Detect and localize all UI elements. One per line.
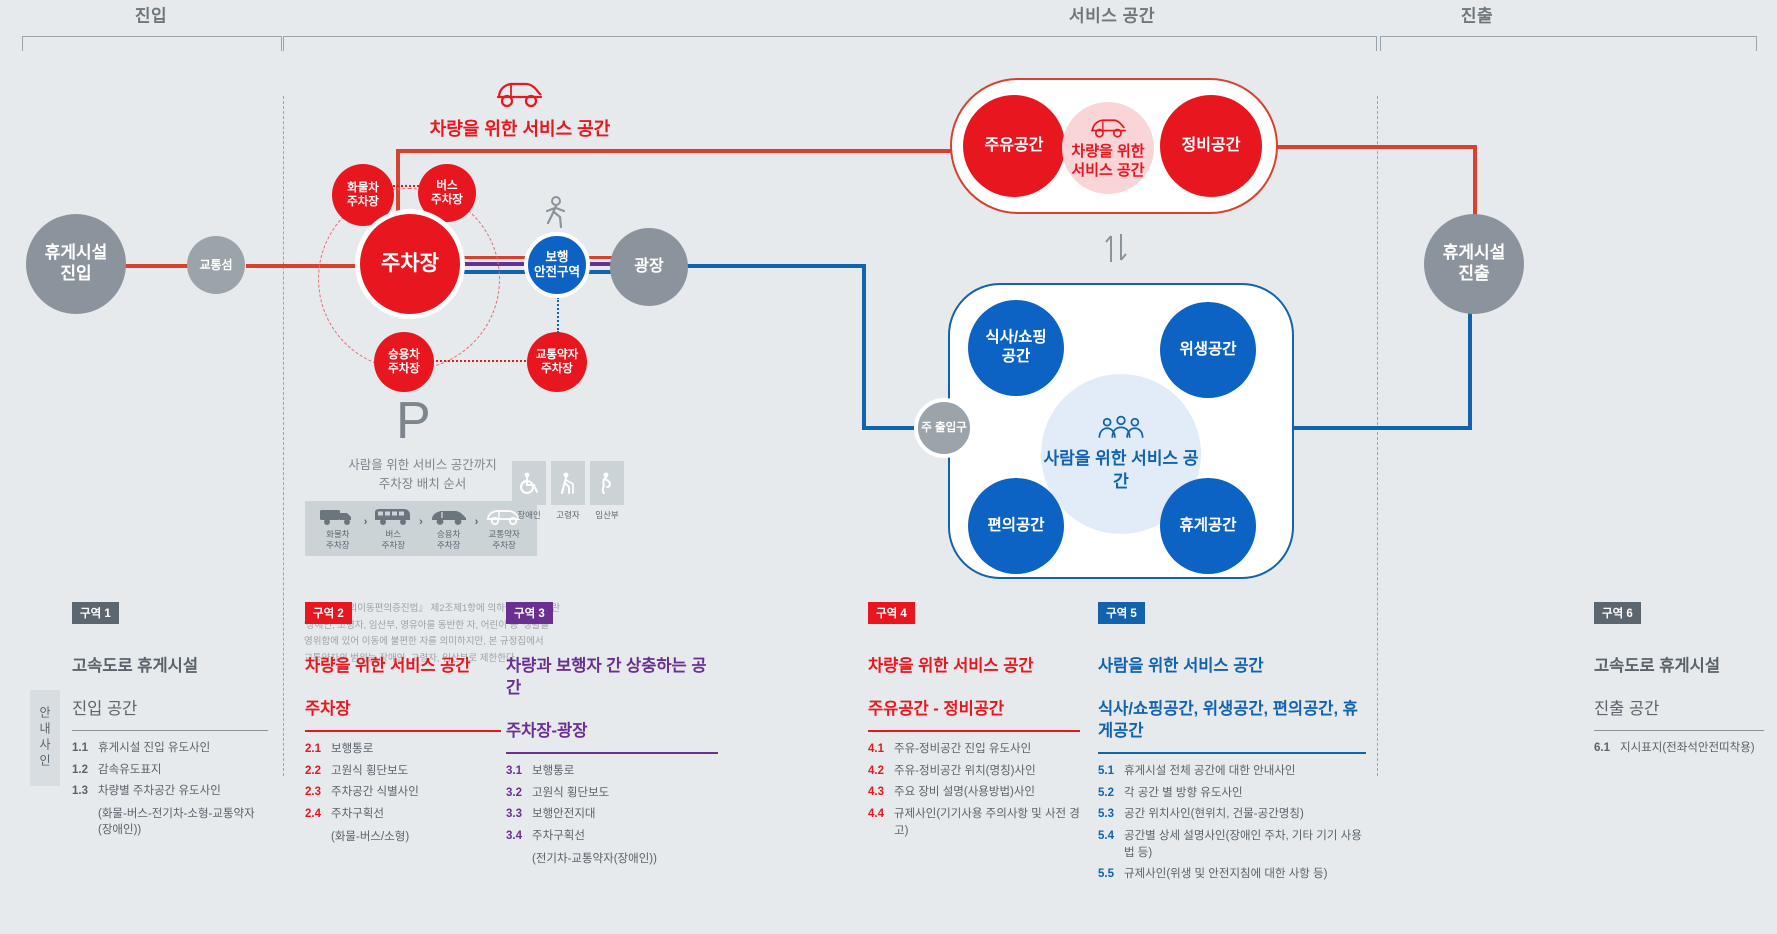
item-text: 지시표지(전좌석안전띠착용)	[1620, 740, 1755, 757]
sequence-arrow-3: ›	[474, 516, 480, 528]
item-number: 4.2	[868, 763, 894, 780]
section-3-subtitle: 주차장-광장	[506, 722, 587, 740]
list-item: 5.3공간 위치사인(현위치, 건물-공간명칭)	[1098, 806, 1366, 823]
item-number: 3.1	[506, 763, 532, 780]
item-number: 4.4	[868, 806, 894, 839]
bracket-service-label: 서비스 공간	[1055, 2, 1169, 27]
route-entry-to-island	[120, 264, 192, 268]
section-1-rule	[72, 730, 268, 731]
node-maintenance-space[interactable]: 정비공간	[1160, 95, 1262, 197]
section-1: 구역 1 고속도로 휴게시설 진입 공간 1.1휴게시설 진입 유도사인 1.2…	[72, 602, 268, 837]
section-1-subitem: (화물-버스-전기차-소형-교통약자(장애인))	[72, 805, 268, 837]
sequence-label-car: 승용차 주차장	[437, 529, 460, 552]
item-text: 보행통로	[532, 763, 574, 780]
list-item: 1.3차량별 주차공간 유도사인	[72, 783, 268, 800]
item-number: 5.3	[1098, 806, 1124, 823]
section-4-title: 차량을 위한 서비스 공간 주유공간 - 정비공간	[868, 634, 1080, 721]
item-number: 1.2	[72, 762, 98, 779]
item-text: 공간별 상세 설명사인(장애인 주차, 기타 기기 사용법 등)	[1124, 828, 1366, 861]
section-1-items: 1.1휴게시설 진입 유도사인 1.2감속유도표지 1.3차량별 주차공간 유도…	[72, 740, 268, 837]
list-item: 3.1보행통로	[506, 763, 718, 780]
list-item: 5.2각 공간 별 방향 유도사인	[1098, 785, 1366, 802]
pedestrian-icon	[541, 196, 571, 232]
section-2-title: 차량을 위한 서비스 공간 주차장	[305, 634, 501, 721]
item-number: 2.3	[305, 784, 331, 801]
section-3: 구역 3 차량과 보행자 간 상충하는 공간 주차장-광장 3.1보행통로 3.…	[506, 602, 718, 866]
section-5-title: 사람을 위한 서비스 공간 식사/쇼핑공간, 위생공간, 편의공간, 휴게공간	[1098, 634, 1366, 743]
section-4-tag: 구역 4	[868, 602, 915, 624]
diagram-canvas: 진입 서비스 공간 진출 휴게시설 진입 교통섬 화물차 주차장 버스 주차장 …	[0, 0, 1777, 934]
section-4-rule	[868, 730, 1080, 732]
section-1-title: 고속도로 휴게시설 진입 공간	[72, 634, 268, 721]
list-item: 2.3주차공간 식별사인	[305, 784, 501, 801]
section-2: 구역 2 차량을 위한 서비스 공간 주차장 2.1보행통로 2.2고원식 횡단…	[305, 602, 501, 844]
item-number: 1.3	[72, 783, 98, 800]
item-text: 규제사인(기기사용 주의사항 및 사전 경고)	[894, 806, 1080, 839]
list-item: 3.2고원식 횡단보도	[506, 785, 718, 802]
section-6-subtitle: 진출 공간	[1594, 700, 1659, 718]
section-3-title: 차량과 보행자 간 상충하는 공간 주차장-광장	[506, 634, 718, 743]
section-2-subitem: (화물-버스/소형)	[305, 828, 501, 844]
group-icon-cell-wheelchair	[512, 461, 546, 505]
vehicle-headline-car-icon	[493, 78, 545, 110]
vehicle-headline-label: 차량을 위한 서비스 공간	[400, 115, 640, 141]
list-item: 2.2고원식 횡단보도	[305, 763, 501, 780]
item-text: 주차구획선	[331, 806, 384, 823]
section-5-title-main: 사람을 위한 서비스 공간	[1098, 657, 1264, 675]
section-2-rule	[305, 730, 501, 732]
item-number: 2.2	[305, 763, 331, 780]
section-2-items: 2.1보행통로 2.2고원식 횡단보도 2.3주차공간 식별사인 2.4주차구획…	[305, 741, 501, 844]
bus-icon	[372, 506, 414, 526]
list-item: 4.3주요 장비 설명(사용방법)사인	[868, 784, 1080, 801]
bracket-service	[283, 36, 1377, 51]
list-item: 6.1지시표지(전좌석안전띠착용)	[1594, 740, 1764, 757]
node-entry[interactable]: 휴게시설 진입	[26, 214, 126, 314]
section-4-subtitle: 주유공간 - 정비공간	[868, 700, 1004, 718]
item-number: 5.4	[1098, 828, 1124, 861]
bracket-entry-label: 진입	[121, 2, 181, 27]
divider-entry-service	[283, 96, 284, 776]
item-text: 주유-정비공간 위치(명칭)사인	[894, 763, 1036, 780]
item-text: 주요 장비 설명(사용방법)사인	[894, 784, 1035, 801]
list-item: 4.1주유-정비공간 진입 유도사인	[868, 741, 1080, 758]
parking-p-mark: P	[396, 395, 431, 447]
item-number: 3.4	[506, 828, 532, 845]
item-number: 6.1	[1594, 740, 1620, 757]
group-label-elderly: 고령자	[551, 509, 585, 521]
group-icon-cell-pregnant	[590, 461, 624, 505]
node-sanitary-space[interactable]: 위생공간	[1160, 302, 1256, 398]
list-item: 1.1휴게시설 진입 유도사인	[72, 740, 268, 757]
item-text: 각 공간 별 방향 유도사인	[1124, 785, 1243, 802]
item-number: 4.1	[868, 741, 894, 758]
car-icon-center	[1088, 116, 1128, 140]
item-text: 보행통로	[331, 741, 373, 758]
sequence-arrow-1: ›	[363, 516, 369, 528]
item-text: 감속유도표지	[98, 762, 161, 779]
people-group-icon	[1095, 415, 1147, 445]
list-item: 5.4공간별 상세 설명사인(장애인 주차, 기타 기기 사용법 등)	[1098, 828, 1366, 861]
node-car-parking[interactable]: 승용차 주차장	[374, 332, 434, 392]
group-label-pregnant: 임산부	[590, 509, 624, 521]
section-1-tag: 구역 1	[72, 602, 119, 624]
item-number: 5.2	[1098, 785, 1124, 802]
node-convenience-space[interactable]: 편의공간	[968, 478, 1064, 574]
section-6: 구역 6 고속도로 휴게시설 진출 공간 6.1지시표지(전좌석안전띠착용)	[1594, 602, 1764, 757]
item-text: 고원식 횡단보도	[532, 785, 609, 802]
item-text: 주차구획선	[532, 828, 585, 845]
group-label-wheelchair: 장애인	[512, 509, 546, 521]
node-pedestrian-safe-zone[interactable]: 보행 안전구역	[524, 232, 590, 298]
item-number: 4.3	[868, 784, 894, 801]
item-number: 1.1	[72, 740, 98, 757]
route-plaza-to-entrance-h	[686, 264, 866, 268]
sequence-label-truck: 화물차 주차장	[326, 529, 349, 552]
sequence-item-truck: 화물차 주차장	[315, 506, 361, 552]
node-main-entrance[interactable]: 주 출입구	[914, 398, 974, 458]
node-fuel-space[interactable]: 주유공간	[963, 95, 1065, 197]
section-6-title-main: 고속도로 휴게시설	[1594, 657, 1720, 675]
item-number: 2.4	[305, 806, 331, 823]
parking-order-caption: 사람을 위한 서비스 공간까지 주차장 배치 순서	[320, 456, 525, 495]
section-6-tag: 구역 6	[1594, 602, 1641, 624]
section-4: 구역 4 차량을 위한 서비스 공간 주유공간 - 정비공간 4.1주유-정비공…	[868, 602, 1080, 839]
node-weak-parking[interactable]: 교통약자 주차장	[527, 332, 587, 392]
section-6-items: 6.1지시표지(전좌석안전띠착용)	[1594, 740, 1764, 757]
section-6-title: 고속도로 휴게시설 진출 공간	[1594, 634, 1764, 721]
group-icon-cell-elderly	[551, 461, 585, 505]
route-plaza-to-entrance-v	[862, 264, 866, 430]
pregnant-icon	[596, 471, 618, 495]
item-number: 5.1	[1098, 763, 1124, 780]
bracket-entry	[22, 36, 282, 51]
section-5-tag: 구역 5	[1098, 602, 1145, 624]
dot-zone-to-weak	[557, 297, 559, 333]
wheelchair-icon	[518, 471, 540, 495]
item-text: 휴게시설 진입 유도사인	[98, 740, 210, 757]
route-entrance-connect	[862, 426, 918, 430]
list-item: 3.4주차구획선	[506, 828, 718, 845]
item-number: 2.1	[305, 741, 331, 758]
list-item: 5.5규제사인(위생 및 안전지침에 대한 사항 등)	[1098, 866, 1366, 883]
list-item: 3.3보행안전지대	[506, 806, 718, 823]
truck-icon	[318, 506, 358, 526]
section-1-subtitle: 진입 공간	[72, 700, 137, 718]
sequence-arrow-2: ›	[418, 516, 424, 528]
side-label-guide-sign: 안내사인	[30, 690, 60, 786]
item-number: 5.5	[1098, 866, 1124, 883]
section-5-rule	[1098, 752, 1366, 754]
route-top-to-vehicle	[396, 149, 958, 153]
sequence-item-bus: 버스 주차장	[370, 506, 416, 552]
vehicle-space-center: 차량을 위한 서비스 공간	[1062, 102, 1154, 194]
people-space-center-label: 사람을 위한 서비스 공간	[1041, 448, 1201, 492]
bidirectional-arrow-icon	[1097, 228, 1137, 268]
sequence-item-car: 승용차 주차장	[426, 506, 472, 552]
section-3-rule	[506, 752, 718, 754]
section-3-tag: 구역 3	[506, 602, 553, 624]
section-5: 구역 5 사람을 위한 서비스 공간 식사/쇼핑공간, 위생공간, 편의공간, …	[1098, 602, 1366, 883]
list-item: 4.4규제사인(기기사용 주의사항 및 사전 경고)	[868, 806, 1080, 839]
item-text: 주유-정비공간 진입 유도사인	[894, 741, 1031, 758]
node-plaza[interactable]: 광장	[610, 228, 688, 306]
node-dining-shopping-space[interactable]: 식사/쇼핑 공간	[968, 300, 1064, 396]
vehicle-space-center-label: 차량을 위한 서비스 공간	[1071, 142, 1144, 181]
node-parking-main[interactable]: 주차장	[355, 209, 465, 319]
section-4-title-main: 차량을 위한 서비스 공간	[868, 657, 1034, 675]
item-text: 휴게시설 전체 공간에 대한 안내사인	[1124, 763, 1295, 780]
section-4-items: 4.1주유-정비공간 진입 유도사인 4.2주유-정비공간 위치(명칭)사인 4…	[868, 741, 1080, 839]
item-text: 보행안전지대	[532, 806, 595, 823]
section-2-title-main: 차량을 위한 서비스 공간	[305, 657, 471, 675]
car-icon	[428, 506, 470, 526]
route-people-to-exit-h	[1294, 426, 1472, 430]
bracket-exit	[1380, 36, 1757, 51]
sequence-label-bus: 버스 주차장	[382, 529, 405, 552]
bracket-exit-label: 진출	[1447, 2, 1507, 27]
section-2-subtitle: 주차장	[305, 700, 351, 718]
sequence-label-weak: 교통약자 주차장	[489, 529, 520, 552]
item-text: 고원식 횡단보도	[331, 763, 408, 780]
item-number: 3.3	[506, 806, 532, 823]
list-item: 4.2주유-정비공간 위치(명칭)사인	[868, 763, 1080, 780]
divider-service-exit	[1377, 96, 1378, 776]
section-6-rule	[1594, 730, 1764, 731]
elderly-icon	[557, 471, 579, 495]
list-item: 2.1보행통로	[305, 741, 501, 758]
section-5-items: 5.1휴게시설 전체 공간에 대한 안내사인 5.2각 공간 별 방향 유도사인…	[1098, 763, 1366, 883]
section-3-title-main: 차량과 보행자 간 상충하는 공간	[506, 657, 707, 697]
transport-vulnerable-group-box	[512, 461, 624, 505]
list-item: 1.2감속유도표지	[72, 762, 268, 779]
item-text: 차량별 주차공간 유도사인	[98, 783, 221, 800]
section-3-items: 3.1보행통로 3.2고원식 횡단보도 3.3보행안전지대 3.4주차구획선 (…	[506, 763, 718, 866]
dot-car-weak	[425, 360, 530, 362]
node-rest-space[interactable]: 휴게공간	[1160, 478, 1256, 574]
item-text: 주차공간 식별사인	[331, 784, 419, 801]
node-exit[interactable]: 휴게시설 진출	[1424, 214, 1524, 314]
item-text: 규제사인(위생 및 안전지침에 대한 사항 등)	[1124, 866, 1328, 883]
list-item: 5.1휴게시설 전체 공간에 대한 안내사인	[1098, 763, 1366, 780]
node-traffic-island[interactable]: 교통섬	[187, 236, 245, 294]
section-1-title-main: 고속도로 휴게시설	[72, 657, 198, 675]
list-item: 2.4주차구획선	[305, 806, 501, 823]
parking-sequence-box: 화물차 주차장 › 버스 주차장 › 승용차 주차장 ›	[305, 501, 537, 556]
section-2-tag: 구역 2	[305, 602, 352, 624]
section-5-subtitle: 식사/쇼핑공간, 위생공간, 편의공간, 휴게공간	[1098, 700, 1358, 740]
route-vehicle-to-exit-h	[1277, 145, 1477, 149]
section-3-subitem: (전기차-교통약자(장애인))	[506, 850, 718, 866]
item-number: 3.2	[506, 785, 532, 802]
item-text: 공간 위치사인(현위치, 건물-공간명칭)	[1124, 806, 1304, 823]
